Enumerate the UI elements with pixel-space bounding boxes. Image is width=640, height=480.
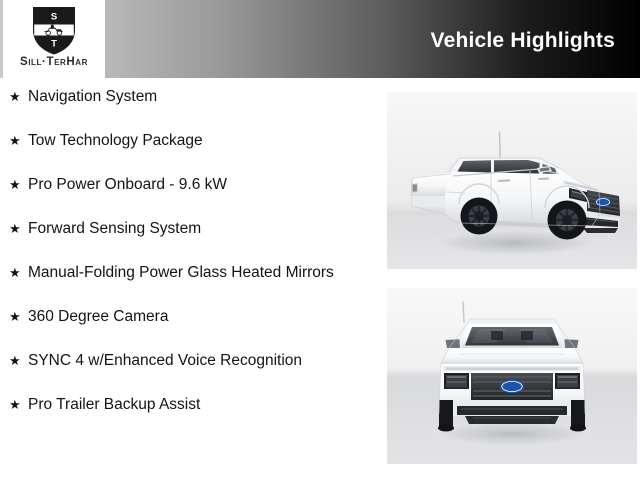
- vehicle-photo-front-three-quarter: [387, 92, 637, 269]
- list-item-label: Pro Power Onboard - 9.6 kW: [28, 174, 364, 196]
- logo-wordmark: Sill·TerHar: [3, 56, 105, 69]
- list-item: ★ Pro Trailer Backup Assist: [0, 394, 372, 416]
- list-item-label: Navigation System: [28, 86, 364, 108]
- star-bullet-icon: ★: [9, 262, 21, 284]
- svg-text:S: S: [51, 12, 57, 23]
- star-bullet-icon: ★: [9, 86, 21, 108]
- vehicle-highlights-slide: Vehicle Highlights S T Sill·TerHa: [0, 0, 640, 480]
- list-item-label: 360 Degree Camera: [28, 306, 364, 328]
- page-title: Vehicle Highlights: [431, 28, 615, 54]
- star-bullet-icon: ★: [9, 218, 21, 240]
- list-item: ★ Navigation System: [0, 86, 372, 108]
- vehicle-highlights-list: ★ Navigation System ★ Tow Technology Pac…: [0, 86, 372, 416]
- svg-text:T: T: [51, 39, 57, 50]
- star-bullet-icon: ★: [9, 174, 21, 196]
- list-item: ★ Manual-Folding Power Glass Heated Mirr…: [0, 262, 372, 284]
- list-item-label: Manual-Folding Power Glass Heated Mirror…: [28, 262, 364, 284]
- star-bullet-icon: ★: [9, 394, 21, 416]
- list-item: ★ SYNC 4 w/Enhanced Voice Recognition: [0, 350, 372, 372]
- list-item: ★ 360 Degree Camera: [0, 306, 372, 328]
- list-item: ★ Pro Power Onboard - 9.6 kW: [0, 174, 372, 196]
- list-item: ★ Tow Technology Package: [0, 130, 372, 152]
- list-item-label: SYNC 4 w/Enhanced Voice Recognition: [28, 350, 364, 372]
- dealer-logo: S T Sill·TerHar: [3, 0, 105, 80]
- list-item-label: Pro Trailer Backup Assist: [28, 394, 364, 416]
- vehicle-photo-front: [387, 288, 637, 464]
- star-bullet-icon: ★: [9, 350, 21, 372]
- star-bullet-icon: ★: [9, 306, 21, 328]
- shield-icon: S T: [31, 4, 77, 56]
- list-item-label: Tow Technology Package: [28, 130, 364, 152]
- star-bullet-icon: ★: [9, 130, 21, 152]
- list-item-label: Forward Sensing System: [28, 218, 364, 240]
- list-item: ★ Forward Sensing System: [0, 218, 372, 240]
